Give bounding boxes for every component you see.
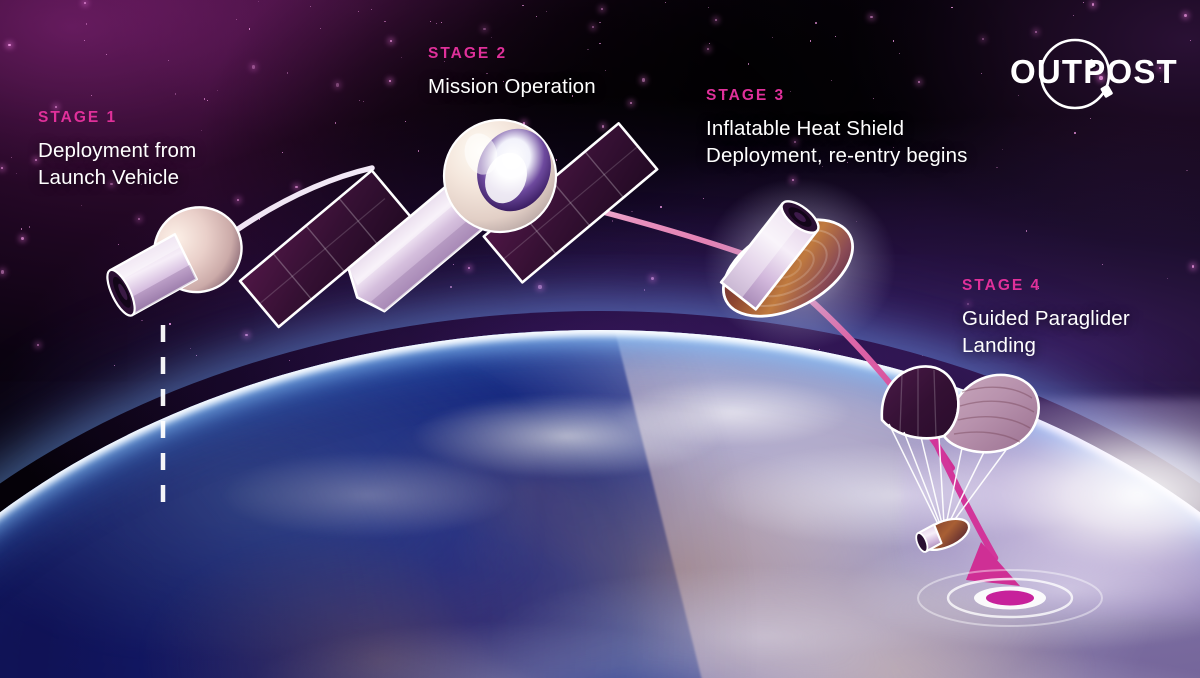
stage-3-kicker: STAGE 3 [706, 88, 968, 104]
outpost-wordmark: OUTPOST [1010, 55, 1178, 88]
stage-4-title-line2: Landing [962, 334, 1036, 357]
stage-4-title: Guided Paraglider Landing [962, 305, 1130, 360]
stage-1-label: STAGE 1 Deployment from Launch Vehicle [38, 110, 196, 191]
infographic-canvas: STAGE 1 Deployment from Launch Vehicle S… [0, 0, 1200, 678]
stage-2-kicker: STAGE 2 [428, 46, 596, 62]
stage-2-label: STAGE 2 Mission Operation [428, 46, 596, 100]
outpost-logo: OUTPOST [1002, 36, 1172, 112]
stage-1-title-line2: Launch Vehicle [38, 166, 179, 189]
stage-4-title-line1: Guided Paraglider [962, 307, 1130, 330]
stage-3-title-line1: Inflatable Heat Shield [706, 117, 904, 140]
stage-4-kicker: STAGE 4 [962, 278, 1130, 294]
stage-3-title: Inflatable Heat Shield Deployment, re-en… [706, 115, 968, 170]
stage-4-label: STAGE 4 Guided Paraglider Landing [962, 278, 1130, 359]
stage-3-label: STAGE 3 Inflatable Heat Shield Deploymen… [706, 88, 968, 169]
stage-3-title-line2: Deployment, re-entry begins [706, 144, 968, 167]
stage-1-kicker: STAGE 1 [38, 110, 196, 126]
stage-2-title: Mission Operation [428, 73, 596, 100]
stage-1-title: Deployment from Launch Vehicle [38, 137, 196, 192]
stage-2-title-line1: Mission Operation [428, 75, 596, 98]
earth [0, 330, 1200, 678]
stage-1-title-line1: Deployment from [38, 139, 196, 162]
